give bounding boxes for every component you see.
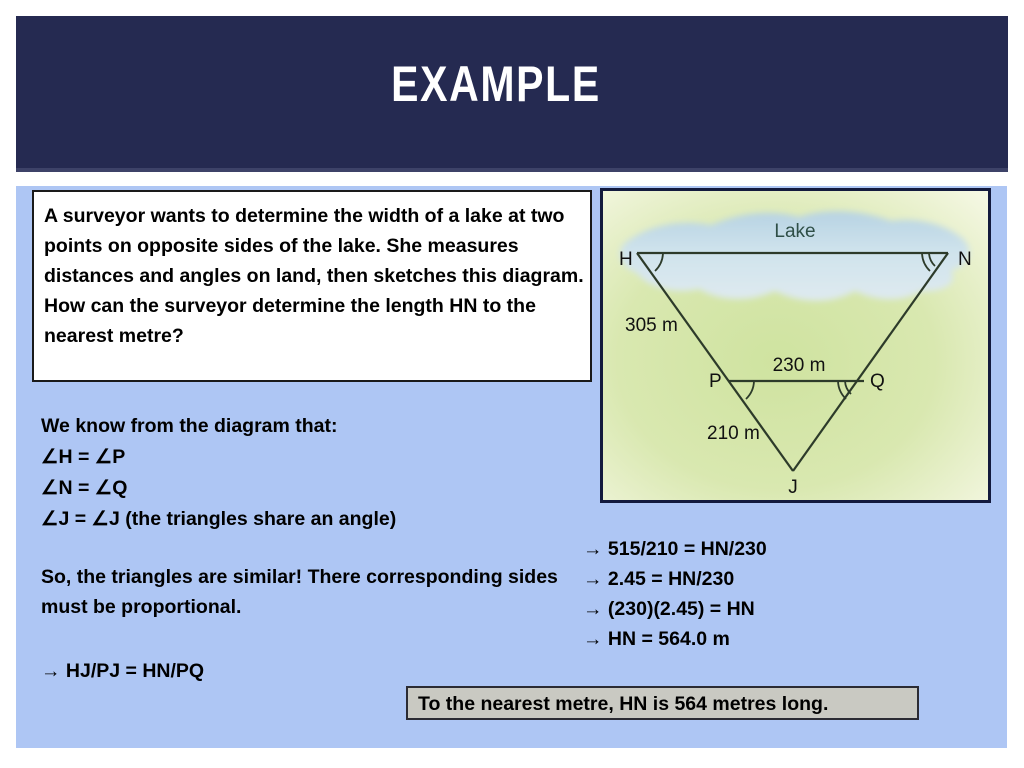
vertex-label-j: J (788, 477, 798, 498)
calculation-line: → 515/210 = HN/230 (583, 534, 983, 564)
problem-statement-text: A surveyor wants to determine the width … (44, 201, 584, 351)
vertex-label-n: N (958, 249, 972, 270)
measure-label-pq: 230 m (773, 355, 826, 376)
lake-label: Lake (774, 221, 815, 242)
known-fact-line: ∠J = ∠J (the triangles share an angle) (41, 504, 561, 535)
measure-label-pj: 210 m (707, 423, 760, 444)
known-facts-block: We know from the diagram that: ∠H = ∠P ∠… (41, 411, 561, 535)
calculation-line: → HN = 564.0 m (583, 624, 983, 654)
calculation-line: → 2.45 = HN/230 (583, 564, 983, 594)
known-fact-line: ∠N = ∠Q (41, 473, 561, 504)
known-facts-heading: We know from the diagram that: (41, 411, 561, 442)
calculation-block: → 515/210 = HN/230 → 2.45 = HN/230 → (23… (583, 534, 983, 654)
vertex-label-h: H (619, 249, 633, 270)
slide-canvas: EXAMPLE A surveyor wants to determine th… (0, 0, 1024, 768)
measure-label-hj: 305 m (625, 315, 678, 336)
known-fact-line: ∠H = ∠P (41, 442, 561, 473)
calculation-line: → (230)(2.45) = HN (583, 594, 983, 624)
problem-statement-box: A surveyor wants to determine the width … (32, 190, 592, 382)
similarity-conclusion-text: So, the triangles are similar! There cor… (41, 562, 561, 622)
page-title: EXAMPLE (89, 56, 902, 112)
diagram-svg: Lake H N P Q J 305 m 230 m 210 m (603, 191, 988, 500)
answer-text: To the nearest metre, HN is 564 metres l… (418, 692, 828, 716)
answer-box: To the nearest metre, HN is 564 metres l… (406, 686, 919, 720)
title-band-edge (16, 168, 1008, 172)
proportion-statement: → HJ/PJ = HN/PQ (41, 656, 204, 686)
similarity-conclusion-block: So, the triangles are similar! There cor… (41, 562, 561, 622)
lake-survey-diagram: Lake H N P Q J 305 m 230 m 210 m (600, 188, 991, 503)
vertex-label-q: Q (870, 371, 885, 392)
vertex-label-p: P (709, 371, 722, 392)
